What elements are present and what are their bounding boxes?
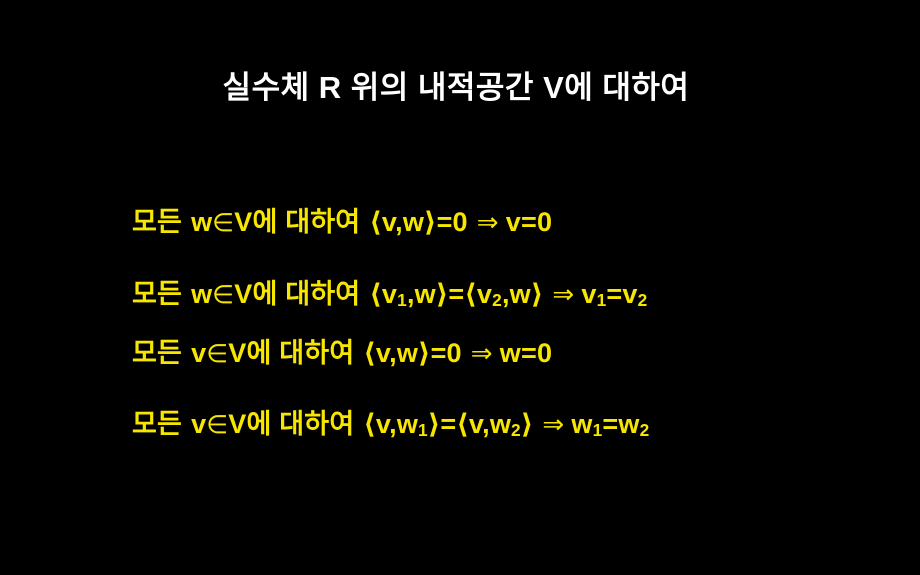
statement-2-concl-right-subscript: 2 — [638, 290, 648, 310]
statement-line-3: 모든v∈V에 대하여⟨v,w⟩=0⇒w=0 — [132, 340, 552, 367]
statement-2-lhs-base: v — [382, 279, 397, 309]
angle-close-icon: ⟩ — [424, 207, 437, 238]
statement-4-variable: v — [191, 409, 206, 439]
statement-4-lhs-subscript: 1 — [418, 420, 428, 440]
statement-2-lhs-rest: ,w — [407, 279, 436, 309]
element-of-icon: ∈ — [212, 208, 234, 237]
statement-2-variable: w — [191, 279, 212, 309]
statement-4-space: V에 대하여 — [228, 409, 354, 439]
statement-3-quantifier: 모든 — [132, 338, 182, 368]
angle-close-icon: ⟩ — [521, 409, 534, 440]
implies-icon: ⇒ — [552, 280, 574, 310]
statement-1-quantifier: 모든 — [132, 207, 182, 237]
element-of-icon: ∈ — [206, 410, 228, 439]
angle-open-icon: ⟨ — [456, 409, 469, 440]
statement-2-rhs-rest: ,w — [502, 279, 531, 309]
implies-icon: ⇒ — [471, 339, 493, 369]
angle-close-icon: ⟩ — [428, 409, 441, 440]
slide-canvas: 실수체 R 위의 내적공간 V에 대하여 모든w∈V에 대하여⟨v,w⟩=0⇒v… — [0, 0, 920, 575]
angle-open-icon: ⟨ — [369, 207, 382, 238]
element-of-icon: ∈ — [212, 280, 234, 309]
implies-icon: ⇒ — [542, 410, 564, 440]
statement-2-lhs-subscript: 1 — [397, 290, 407, 310]
angle-open-icon: ⟨ — [363, 338, 376, 369]
angle-close-icon: ⟩ — [436, 279, 449, 310]
statement-line-2: 모든w∈V에 대하여⟨v1,w⟩=⟨v2,w⟩⇒v1=v2 — [132, 281, 647, 308]
implies-icon: ⇒ — [477, 208, 499, 238]
statement-3-conclusion: w=0 — [500, 338, 552, 368]
statement-2-concl-left-base: v — [581, 279, 596, 309]
statement-2-rhs-subscript: 2 — [492, 290, 502, 310]
statement-4-concl-left-subscript: 1 — [593, 420, 603, 440]
statement-4-concl-right-subscript: 2 — [640, 420, 650, 440]
statement-line-1: 모든w∈V에 대하여⟨v,w⟩=0⇒v=0 — [132, 209, 552, 236]
statement-1-variable: w — [191, 207, 212, 237]
element-of-icon: ∈ — [206, 339, 228, 368]
page-title: 실수체 R 위의 내적공간 V에 대하여 — [0, 62, 912, 107]
statement-1-conclusion: v=0 — [506, 207, 552, 237]
statement-4-concl-right-base: w — [618, 409, 639, 439]
statement-2-concl-right-base: v — [622, 279, 637, 309]
angle-open-icon: ⟨ — [464, 279, 477, 310]
statement-4-lhs-base: v,w — [376, 409, 418, 439]
statement-2-space: V에 대하여 — [234, 279, 360, 309]
angle-open-icon: ⟨ — [369, 279, 382, 310]
statement-4-rhs-subscript: 2 — [511, 420, 521, 440]
statement-2-concl-equals: = — [606, 279, 622, 309]
statement-line-4: 모든v∈V에 대하여⟨v,w1⟩=⟨v,w2⟩⇒w1=w2 — [132, 411, 649, 438]
statement-1-relation: =0 — [437, 207, 468, 237]
statement-3-variable: v — [191, 338, 206, 368]
statement-2-concl-left-subscript: 1 — [597, 290, 607, 310]
statement-1-space: V에 대하여 — [234, 207, 360, 237]
statement-4-concl-equals: = — [602, 409, 618, 439]
statement-2-rhs-base: v — [477, 279, 492, 309]
statement-4-rhs-base: v,w — [469, 409, 511, 439]
statement-3-relation: =0 — [431, 338, 462, 368]
statement-4-quantifier: 모든 — [132, 409, 182, 439]
angle-open-icon: ⟨ — [363, 409, 376, 440]
angle-close-icon: ⟩ — [418, 338, 431, 369]
statement-3-inner: v,w — [376, 338, 418, 368]
statement-3-space: V에 대하여 — [228, 338, 354, 368]
statement-4-concl-left-base: w — [571, 409, 592, 439]
statement-4-equals: = — [440, 409, 456, 439]
angle-close-icon: ⟩ — [531, 279, 544, 310]
statement-1-inner: v,w — [382, 207, 424, 237]
statement-2-equals: = — [448, 279, 464, 309]
statement-2-quantifier: 모든 — [132, 279, 182, 309]
